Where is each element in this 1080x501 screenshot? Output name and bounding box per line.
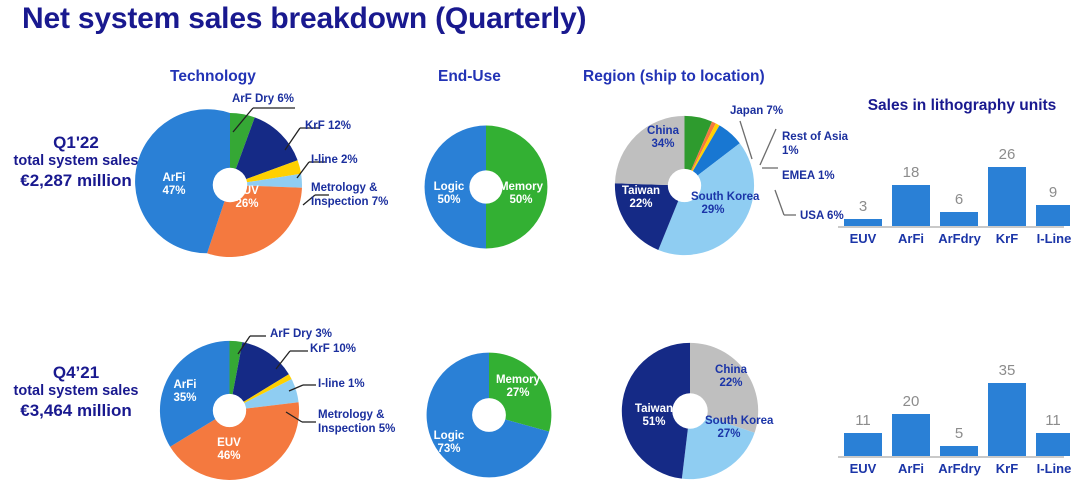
bar-value-euv: 11 xyxy=(844,412,882,429)
column-header-end-use: End-Use xyxy=(438,68,501,86)
bar-category-arfdry: ArFdry xyxy=(932,231,987,246)
region-callout-emea-q1-22: EMEA 1% xyxy=(782,170,835,184)
bar-value-arfi: 20 xyxy=(892,393,930,410)
column-header-region: Region (ship to location) xyxy=(583,68,765,86)
row-subtitle: total system sales xyxy=(0,382,152,401)
end-use-label-logic-q4-21: Logic73% xyxy=(427,430,471,456)
bar-krf[interactable] xyxy=(988,383,1026,456)
bar-category-euv: EUV xyxy=(837,231,889,246)
region-label-china-q1-22: China34% xyxy=(639,125,687,151)
end-use-donut-svg-q4-21 xyxy=(424,350,554,480)
end-use-donut-q4-21[interactable] xyxy=(424,350,554,480)
bar-chart-q4-21[interactable]: 11 20 5 35 11 EUV ArFi ArFdry KrF I-Line xyxy=(838,378,1070,478)
region-label-taiwan-q4-21: Taiwan51% xyxy=(628,403,680,429)
row-label-q1-22: Q1'22 total system sales €2,287 million xyxy=(0,133,152,190)
bar-category-i-line: I-Line xyxy=(1028,461,1080,476)
bar-value-i-line: 11 xyxy=(1036,412,1070,429)
bar-arfdry[interactable] xyxy=(940,446,978,456)
tech-callout-i-line-q1-22: I-line 2% xyxy=(311,154,358,168)
bar-category-arfdry: ArFdry xyxy=(932,461,987,476)
tech-label-euv-q4-21: EUV46% xyxy=(207,437,251,463)
bar-category-arfi: ArFi xyxy=(885,231,937,246)
page-title: Net system sales breakdown (Quarterly) xyxy=(22,2,586,36)
bar-category-i-line: I-Line xyxy=(1028,231,1080,246)
column-header-technology: Technology xyxy=(170,68,256,86)
row-quarter: Q4’21 xyxy=(0,363,152,382)
row-quarter: Q1'22 xyxy=(0,133,152,152)
bar-value-krf: 26 xyxy=(988,146,1026,163)
tech-callout-metrology-q1-22: Metrology & Inspection 7% xyxy=(311,182,407,209)
row-label-q4-21: Q4’21 total system sales €3,464 million xyxy=(0,363,152,420)
bar-euv[interactable] xyxy=(844,433,882,456)
bar-i-line[interactable] xyxy=(1036,433,1070,456)
bar-value-euv: 3 xyxy=(844,198,882,215)
row-subtitle: total system sales xyxy=(0,152,152,171)
bar-category-euv: EUV xyxy=(837,461,889,476)
bar-value-krf: 35 xyxy=(988,362,1026,379)
slide-root: Net system sales breakdown (Quarterly) T… xyxy=(0,0,1080,501)
row-amount: €2,287 million xyxy=(0,171,152,190)
bar-value-i-line: 9 xyxy=(1036,184,1070,201)
tech-label-arfi-q4-21: ArFi35% xyxy=(163,379,207,405)
row-amount: €3,464 million xyxy=(0,401,152,420)
bar-krf[interactable] xyxy=(988,167,1026,226)
bar-euv[interactable] xyxy=(844,219,882,226)
tech-callout-krf-q4-21: KrF 10% xyxy=(310,343,356,357)
bar-baseline xyxy=(838,456,1064,458)
region-label-china-q4-21: China22% xyxy=(707,364,755,390)
bar-chart-title: Sales in lithography units xyxy=(862,96,1062,115)
bar-arfdry[interactable] xyxy=(940,212,978,226)
region-leader-lines-q1-22 xyxy=(718,105,858,225)
bar-value-arfdry: 6 xyxy=(940,191,978,208)
bar-i-line[interactable] xyxy=(1036,205,1070,226)
bar-category-arfi: ArFi xyxy=(885,461,937,476)
region-callout-japan-q1-22: Japan 7% xyxy=(730,105,783,119)
bar-chart-q1-22[interactable]: 3 18 6 26 9 EUV ArFi ArFdry KrF I-Line xyxy=(838,140,1070,240)
tech-callout-metrology-q4-21: Metrology & Inspection 5% xyxy=(318,409,414,436)
bar-arfi[interactable] xyxy=(892,185,930,226)
tech-callout-arf-dry-q1-22: ArF Dry 6% xyxy=(232,93,294,107)
end-use-label-memory-q4-21: Memory27% xyxy=(492,374,544,400)
tech-label-arfi-q1-22: ArFi47% xyxy=(152,172,196,198)
tech-callout-arf-dry-q4-21: ArF Dry 3% xyxy=(270,328,332,342)
bar-category-krf: KrF xyxy=(981,231,1033,246)
tech-callout-i-line-q4-21: I-line 1% xyxy=(318,378,365,392)
region-label-taiwan-q1-22: Taiwan22% xyxy=(617,185,665,211)
bar-category-krf: KrF xyxy=(981,461,1033,476)
region-label-south-korea-q4-21: South Korea27% xyxy=(705,415,753,440)
end-use-label-memory-q1-22: Memory50% xyxy=(495,181,547,207)
donut-hole xyxy=(472,398,506,432)
bar-value-arfi: 18 xyxy=(892,164,930,181)
end-use-label-logic-q1-22: Logic50% xyxy=(427,181,471,207)
bar-arfi[interactable] xyxy=(892,414,930,456)
bar-baseline xyxy=(838,226,1064,228)
tech-callout-krf-q1-22: KrF 12% xyxy=(305,120,351,134)
bar-value-arfdry: 5 xyxy=(940,425,978,442)
